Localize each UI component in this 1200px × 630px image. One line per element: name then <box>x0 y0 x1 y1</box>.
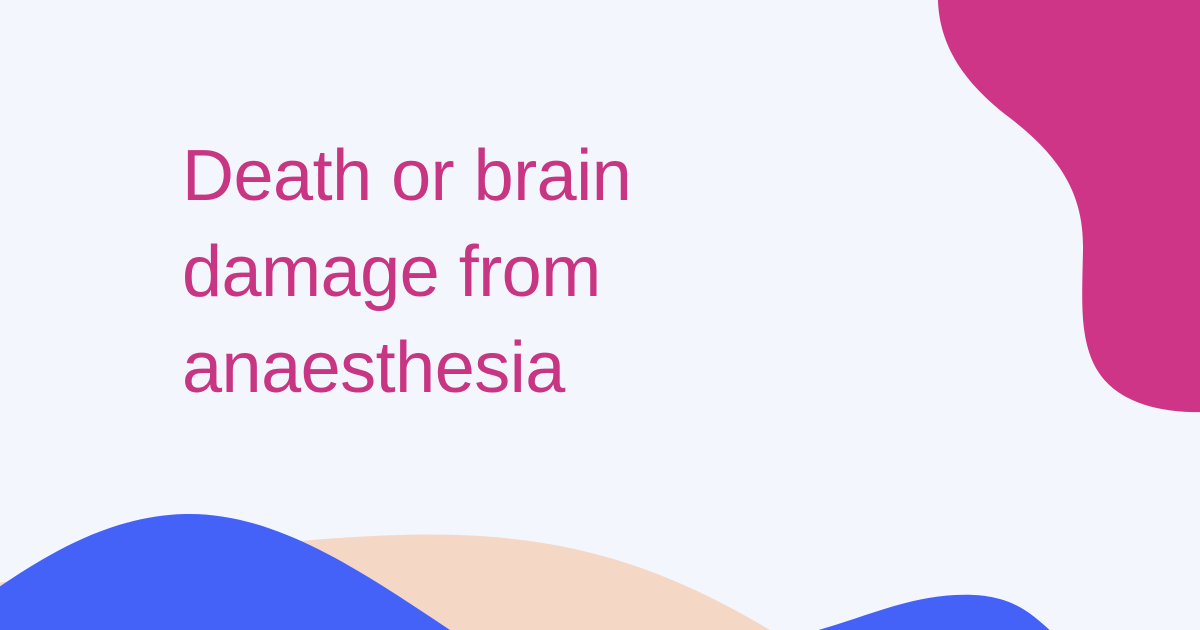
title-line-1: Death or brain <box>182 128 742 224</box>
page-title: Death or brain damage from anaesthesia <box>182 128 742 416</box>
blue-wave-bottom-right-shape <box>800 595 1055 630</box>
title-line-3: anaesthesia <box>182 320 742 416</box>
title-line-2: damage from <box>182 224 742 320</box>
pink-blob-top-right-shape <box>938 0 1200 412</box>
social-share-card: Death or brain damage from anaesthesia <box>0 0 1200 630</box>
